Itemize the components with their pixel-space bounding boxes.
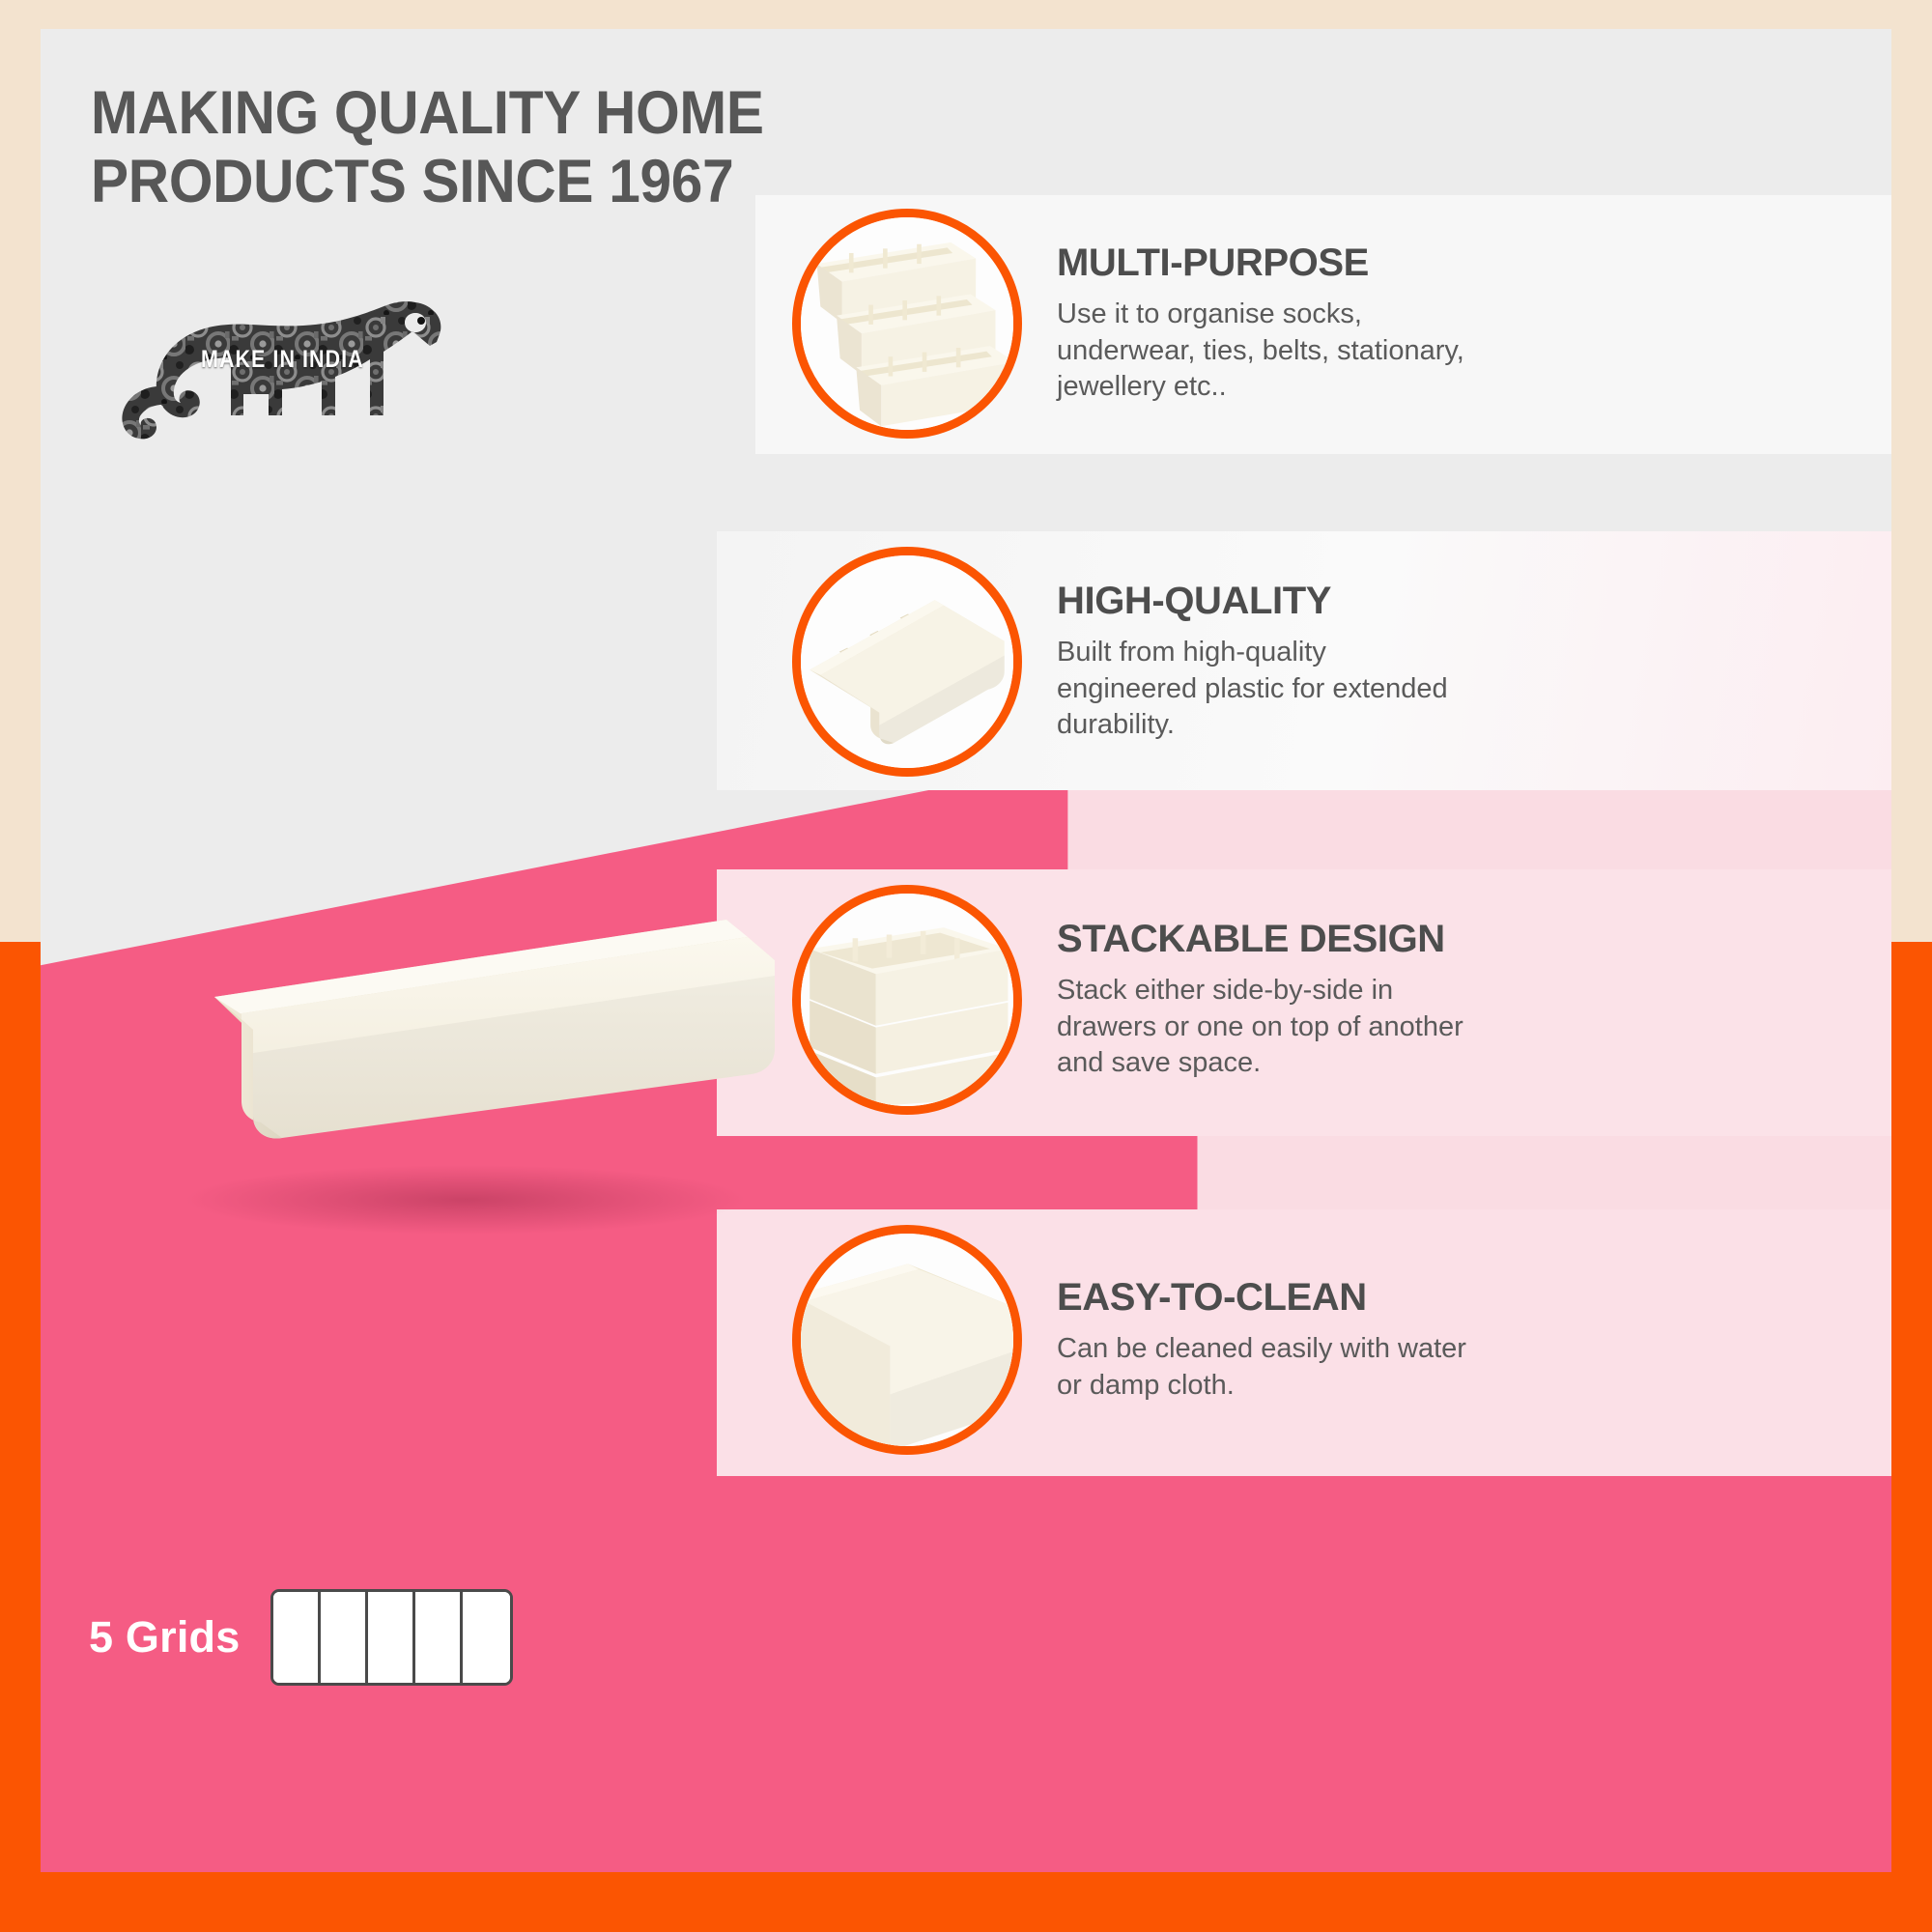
frame-right-lower (1891, 942, 1932, 1932)
feature-title: MULTI-PURPOSE (1057, 241, 1472, 285)
stage: MAKING QUALITY HOME PRODUCTS SINCE 1967 (41, 29, 1891, 1872)
stacked-organizers-stairs-photo-icon (792, 209, 1022, 439)
organizer-closeup-photo-icon (792, 1225, 1022, 1455)
five-cell-grid-icon (270, 1589, 513, 1686)
grid-cell (321, 1592, 368, 1683)
feature-title: HIGH-QUALITY (1057, 580, 1472, 623)
feature-high-quality: HIGH-QUALITY Built from high-quality eng… (792, 547, 1472, 777)
feature-stackable-design: STACKABLE DESIGN Stack either side-by-si… (792, 885, 1472, 1115)
feature-description: Can be cleaned easily with water or damp… (1057, 1331, 1472, 1404)
frame-left-lower (0, 942, 41, 1932)
feature-title: EASY-TO-CLEAN (1057, 1276, 1472, 1320)
make-in-india-logo: MAKE IN INDIA (97, 270, 473, 444)
logo-label: MAKE IN INDIA (201, 346, 364, 374)
grids-badge: 5 Grids (89, 1589, 513, 1686)
grid-cell (415, 1592, 463, 1683)
feature-multi-purpose: MULTI-PURPOSE Use it to organise socks, … (792, 209, 1472, 439)
infographic-canvas: MAKING QUALITY HOME PRODUCTS SINCE 1967 (0, 0, 1932, 1932)
frame-bottom (0, 1872, 1932, 1932)
grids-label: 5 Grids (89, 1612, 240, 1662)
frame-right-upper (1891, 0, 1932, 942)
feature-text-block: HIGH-QUALITY Built from high-quality eng… (1057, 580, 1472, 744)
single-organizer-angled-photo-icon (792, 547, 1022, 777)
feature-description: Stack either side-by-side in drawers or … (1057, 973, 1472, 1082)
three-stacked-organizers-photo-icon (792, 885, 1022, 1115)
feature-description: Built from high-quality engineered plast… (1057, 635, 1472, 744)
feature-text-block: EASY-TO-CLEAN Can be cleaned easily with… (1057, 1276, 1472, 1404)
frame-left-upper (0, 0, 41, 942)
grid-cell (463, 1592, 510, 1683)
feature-title: STACKABLE DESIGN (1057, 918, 1472, 961)
feature-text-block: STACKABLE DESIGN Stack either side-by-si… (1057, 918, 1472, 1082)
feature-description: Use it to organise socks, underwear, tie… (1057, 297, 1472, 406)
feature-easy-to-clean: EASY-TO-CLEAN Can be cleaned easily with… (792, 1225, 1472, 1455)
feature-text-block: MULTI-PURPOSE Use it to organise socks, … (1057, 241, 1472, 406)
grid-cell (368, 1592, 415, 1683)
frame-top (0, 0, 1932, 29)
grid-cell (273, 1592, 321, 1683)
hero-product-image (147, 860, 804, 1246)
page-title: MAKING QUALITY HOME PRODUCTS SINCE 1967 (91, 79, 828, 216)
